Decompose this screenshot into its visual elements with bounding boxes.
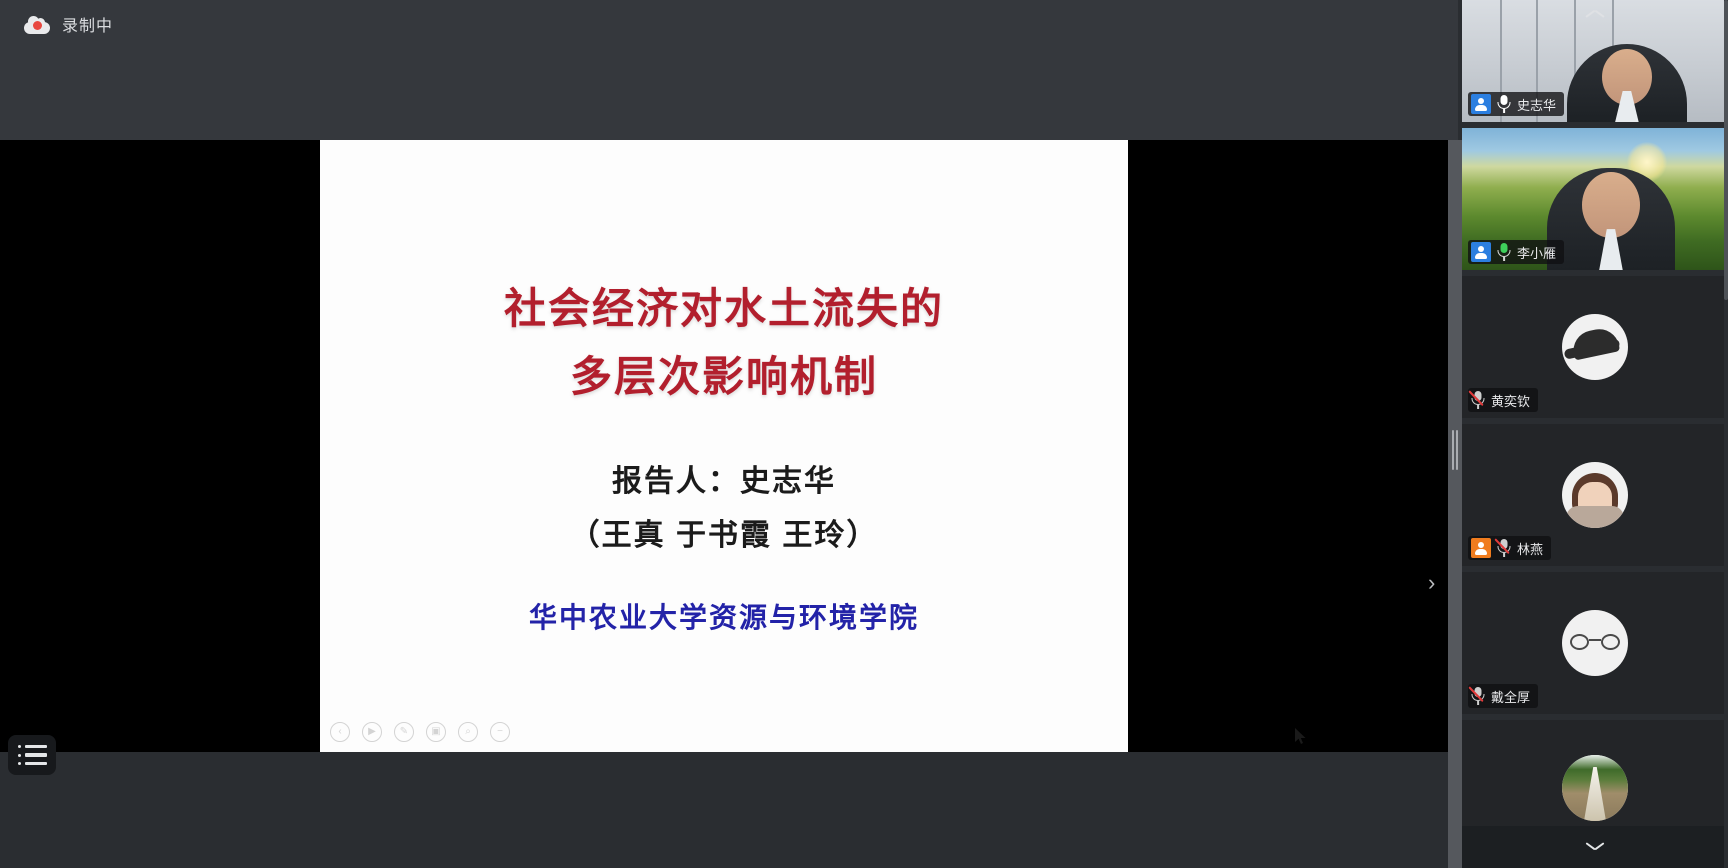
participant-tile[interactable]: 史志华 <box>1462 0 1728 122</box>
person-icon <box>1471 242 1491 262</box>
meeting-window: 录制中 社会经济对水土流失的 多层次影响机制 报告人：史志华 （王真 于书霞 王… <box>0 0 1728 868</box>
cloud-record-icon <box>24 14 50 34</box>
mic-muted-icon <box>1471 687 1485 705</box>
camera-capture-button[interactable]: ▣ <box>426 722 446 742</box>
slide-organization: 华中农业大学资源与环境学院 <box>529 596 919 636</box>
chevron-down-icon <box>1586 842 1604 852</box>
participant-tile[interactable]: 黄奕钦 <box>1462 276 1728 418</box>
mic-muted-icon <box>1471 391 1485 409</box>
scrollbar-thumb[interactable] <box>1724 0 1728 300</box>
collapse-panel-chevron-icon[interactable]: › <box>1428 572 1435 594</box>
outline-list-icon <box>18 745 47 766</box>
participant-name: 戴全厚 <box>1491 687 1530 706</box>
slide-presenter: 报告人：史志华 <box>612 456 836 500</box>
chevron-up-icon[interactable] <box>1586 8 1604 18</box>
participant-tile[interactable] <box>1462 720 1728 868</box>
zoom-button[interactable]: ⌕ <box>458 722 478 742</box>
participant-tile[interactable]: 李小雁 <box>1462 128 1728 270</box>
participant-name: 史志华 <box>1517 95 1556 114</box>
previous-page-button[interactable]: ‹ <box>330 722 350 742</box>
slide-title-line1: 社会经济对水土流失的 <box>504 275 944 343</box>
avatar <box>1562 314 1628 380</box>
glasses-icon <box>1570 634 1620 652</box>
zoom-out-button[interactable]: − <box>490 722 510 742</box>
participant-namebar: 黄奕钦 <box>1468 388 1538 412</box>
avatar <box>1562 610 1628 676</box>
slide-authors: （王真 于书霞 王玲） <box>570 510 879 554</box>
top-bar: 录制中 <box>0 0 1458 140</box>
scroll-down-button[interactable] <box>1462 826 1728 868</box>
mouse-cursor <box>1295 728 1307 745</box>
mic-on-icon <box>1497 95 1511 113</box>
avatar <box>1562 462 1628 528</box>
participant-name: 林燕 <box>1517 539 1543 558</box>
avatar <box>1562 755 1628 821</box>
screen-share-stage: 社会经济对水土流失的 多层次影响机制 报告人：史志华 （王真 于书霞 王玲） 华… <box>0 140 1448 752</box>
bottom-area <box>0 752 1458 868</box>
recording-label: 录制中 <box>62 12 113 36</box>
pen-annotate-button[interactable]: ✎ <box>394 722 414 742</box>
pdf-toolbar[interactable]: ‹ ▶ ✎ ▣ ⌕ − <box>330 722 510 742</box>
participant-name: 李小雁 <box>1517 243 1556 262</box>
participant-name: 黄奕钦 <box>1491 391 1530 410</box>
recording-indicator: 录制中 <box>24 12 113 36</box>
mic-muted-icon <box>1497 539 1511 557</box>
participant-namebar: 史志华 <box>1468 92 1564 116</box>
person-icon <box>1471 538 1491 558</box>
participant-tile[interactable]: 林燕 <box>1462 424 1728 566</box>
person-icon <box>1471 94 1491 114</box>
slide-title-line2: 多层次影响机制 <box>504 343 944 411</box>
play-button[interactable]: ▶ <box>362 722 382 742</box>
outline-list-button[interactable] <box>8 735 56 775</box>
participant-namebar: 李小雁 <box>1468 240 1564 264</box>
participant-tile[interactable]: 戴全厚 <box>1462 572 1728 714</box>
panel-drag-handle[interactable] <box>1452 430 1458 470</box>
presentation-slide: 社会经济对水土流失的 多层次影响机制 报告人：史志华 （王真 于书霞 王玲） 华… <box>320 140 1128 752</box>
slide-title: 社会经济对水土流失的 多层次影响机制 <box>504 275 944 411</box>
participants-panel[interactable]: 史志华 李小雁 <box>1462 0 1728 868</box>
panel-scrollbar[interactable] <box>1724 0 1728 868</box>
panel-divider[interactable] <box>1448 140 1462 868</box>
participant-namebar: 戴全厚 <box>1468 684 1538 708</box>
participant-namebar: 林燕 <box>1468 536 1551 560</box>
mic-active-icon <box>1497 243 1511 261</box>
video-person <box>1547 168 1675 270</box>
